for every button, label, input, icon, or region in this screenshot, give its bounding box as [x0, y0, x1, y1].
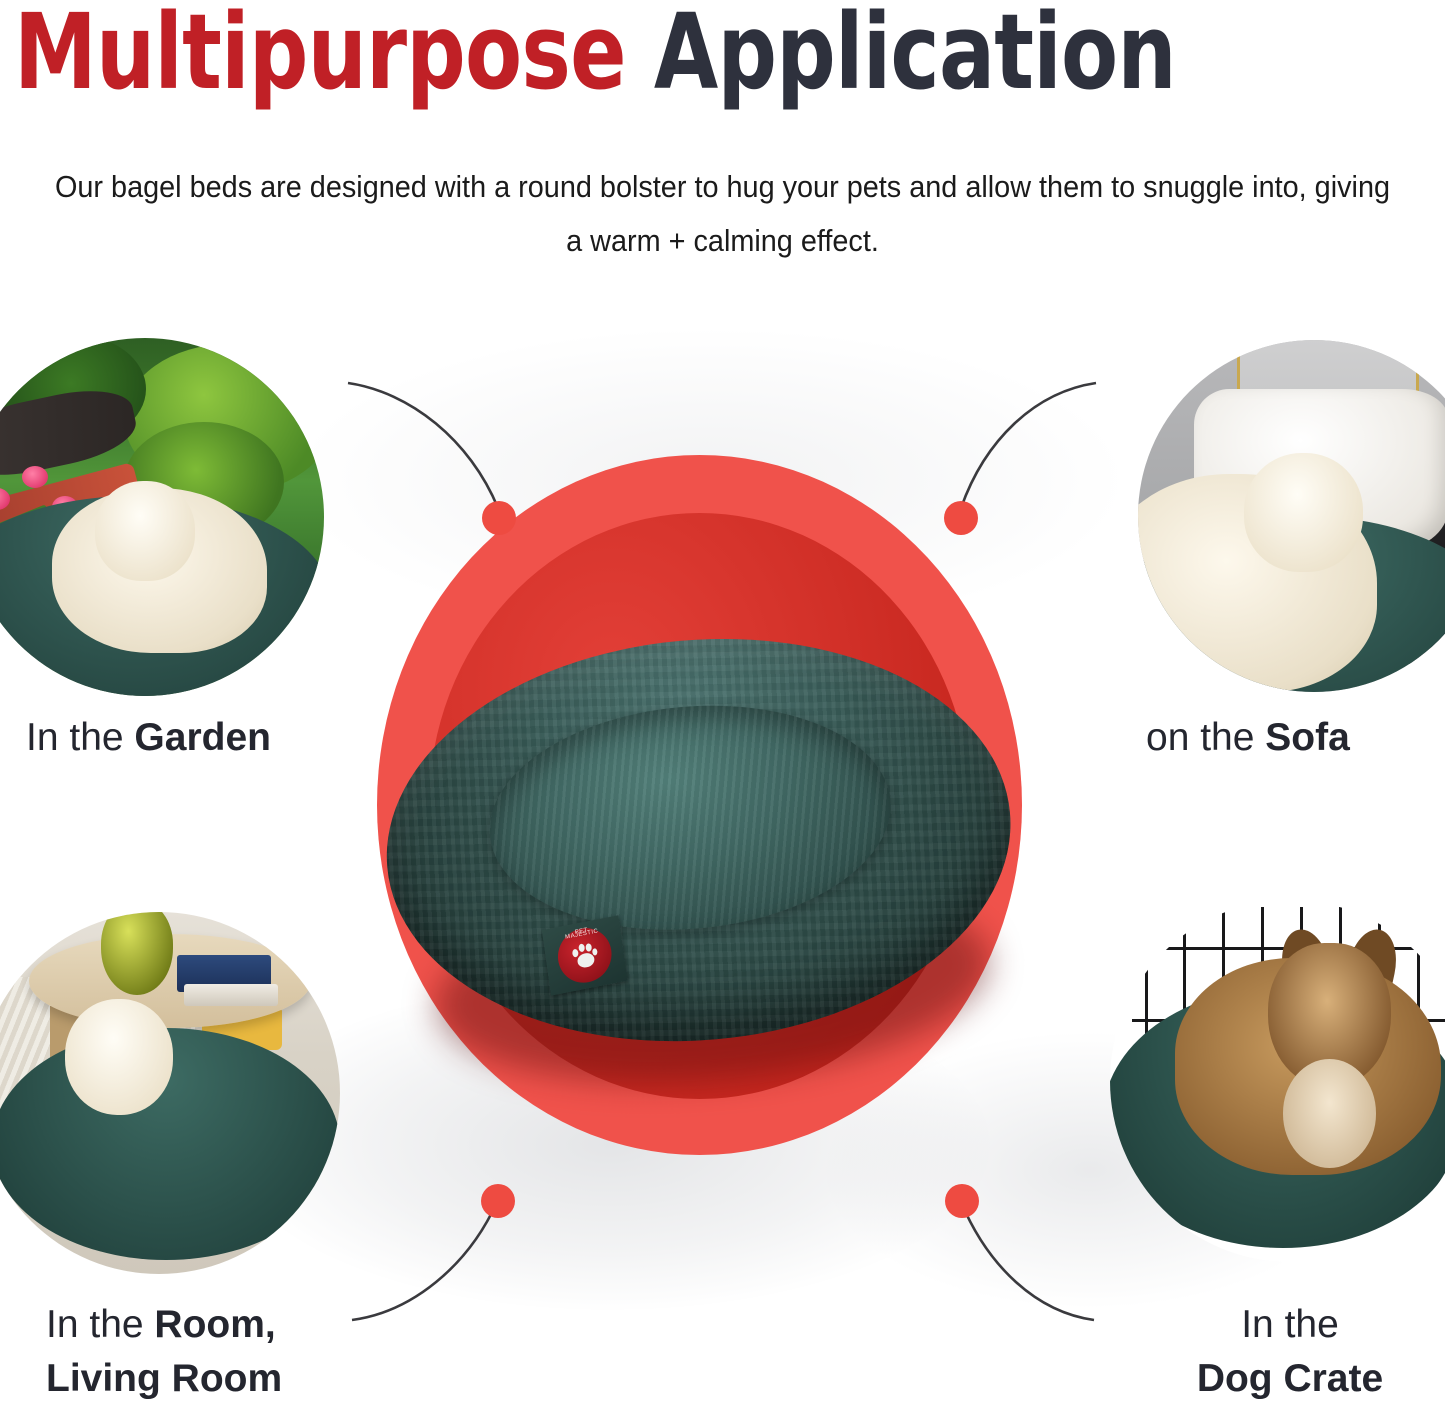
- caption-dog-crate: In theDog Crate: [1140, 1298, 1440, 1406]
- caption-living-room: In the Room,Living Room: [46, 1298, 386, 1406]
- caption-room-regular: In the: [46, 1303, 154, 1346]
- title-rest: Application: [626, 0, 1176, 113]
- caption-sofa-regular: on the: [1146, 716, 1265, 759]
- living-room-dog-head: [65, 999, 174, 1115]
- paw-print-icon: [569, 939, 600, 972]
- caption-crate-regular: In the: [1241, 1303, 1339, 1346]
- living-room-scene: [0, 912, 340, 1274]
- connector-dot-bottom-right: [945, 1184, 979, 1218]
- garden-scene: [0, 338, 324, 696]
- sofa-dog-head: [1244, 453, 1364, 573]
- hero-product: MAJESTIC PET: [377, 455, 1022, 1173]
- product-dog-bed: MAJESTIC PET: [370, 614, 1029, 1087]
- photo-dog-crate: [1110, 900, 1445, 1262]
- photo-sofa: [1138, 340, 1445, 692]
- caption-garden-regular: In the: [26, 716, 134, 759]
- caption-sofa: on the Sofa: [1146, 711, 1350, 765]
- sofa-scene: [1138, 340, 1445, 692]
- brand-badge: MAJESTIC PET: [554, 923, 615, 987]
- connector-line-bottom-right: [961, 1202, 1094, 1320]
- caption-crate-bold: Dog Crate: [1140, 1352, 1440, 1406]
- photo-garden: [0, 338, 324, 696]
- caption-sofa-bold: Sofa: [1265, 716, 1350, 759]
- caption-room-line2: Living Room: [46, 1352, 386, 1406]
- connector-dot-top-right: [944, 501, 978, 535]
- caption-garden: In the Garden: [26, 711, 271, 765]
- crate-dog-chest: [1283, 1059, 1377, 1168]
- connector-dot-top-left: [482, 501, 516, 535]
- caption-garden-bold: Garden: [134, 716, 271, 759]
- garden-dog-head: [95, 481, 195, 581]
- page-subtitle: Our bagel beds are designed with a round…: [51, 160, 1395, 268]
- connector-dot-bottom-left: [481, 1184, 515, 1218]
- caption-room-bold: Room,: [154, 1303, 275, 1346]
- title-highlight: Multipurpose: [14, 0, 626, 113]
- photo-living-room: [0, 912, 340, 1274]
- infographic-page: Multipurpose Application Our bagel beds …: [0, 0, 1445, 1417]
- page-title: Multipurpose Application: [14, 0, 1150, 108]
- crate-scene: [1110, 900, 1445, 1262]
